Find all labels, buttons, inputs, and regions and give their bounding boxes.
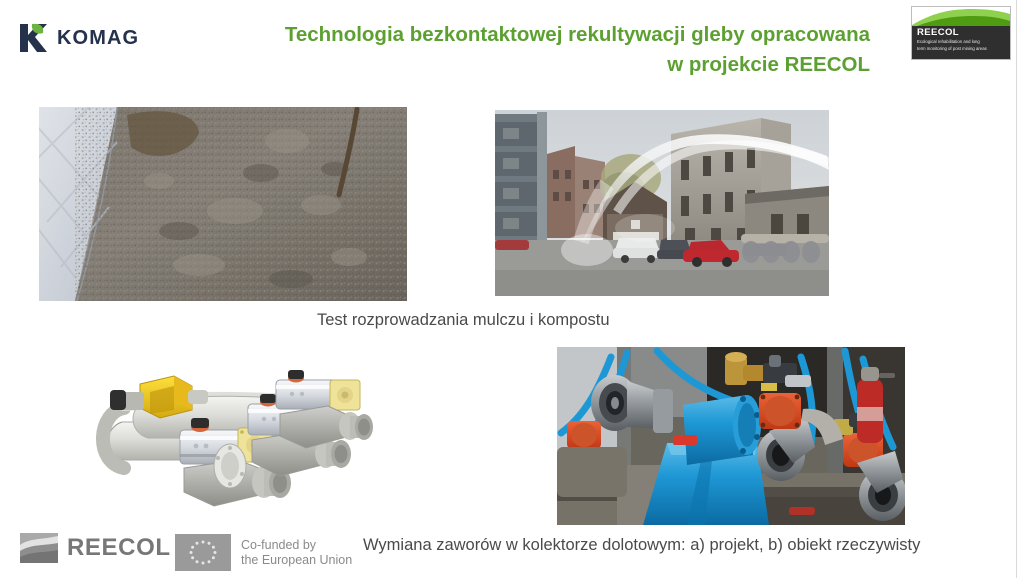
slide-title-line2: w projekcie REECOL (180, 50, 870, 80)
slide-canvas: KOMAG Technologia bezkontaktowej rekulty… (0, 0, 1024, 578)
footer-reecol-wordmark: REECOL (67, 534, 171, 562)
komag-wordmark: KOMAG (57, 27, 139, 50)
eu-flag-icon (175, 534, 231, 571)
right-edge-divider (1016, 0, 1017, 578)
photo-mulch-spread (39, 107, 407, 301)
reecol-logo-band: REECOL Ecological rehabilitation and lon… (912, 26, 1010, 59)
caption-valve-exchange: Wymiana zaworów w kolektorze dolotowym: … (363, 536, 920, 555)
komag-leaf-k-icon (18, 22, 48, 54)
komag-logo: KOMAG (18, 22, 139, 54)
photo-spray-application (495, 110, 829, 296)
slide-title: Technologia bezkontaktowej rekultywacji … (180, 20, 870, 79)
footer-reecol-logo: REECOL (20, 533, 171, 563)
reecol-logo-tagline-1: Ecological rehabilitation and long (917, 39, 1006, 45)
caption-mulch-test: Test rozprowadzania mulczu i kompostu (317, 311, 610, 330)
reecol-landscape-icon (20, 533, 58, 563)
reecol-project-logo: REECOL Ecological rehabilitation and lon… (911, 6, 1011, 60)
cad-model-valve-manifold (88, 358, 374, 523)
reecol-logo-tagline-2: term monitoring of post mining areas (917, 46, 1006, 52)
eu-funding-line1: Co-funded by (241, 538, 352, 553)
slide-title-line1: Technologia bezkontaktowej rekultywacji … (180, 20, 870, 50)
footer-eu-funding-logo: Co-funded by the European Union (175, 534, 352, 571)
eu-funding-text: Co-funded by the European Union (241, 538, 352, 568)
reecol-logo-name: REECOL (917, 28, 1006, 38)
eu-funding-line2: the European Union (241, 553, 352, 568)
photo-valve-manifold-real (557, 347, 905, 525)
